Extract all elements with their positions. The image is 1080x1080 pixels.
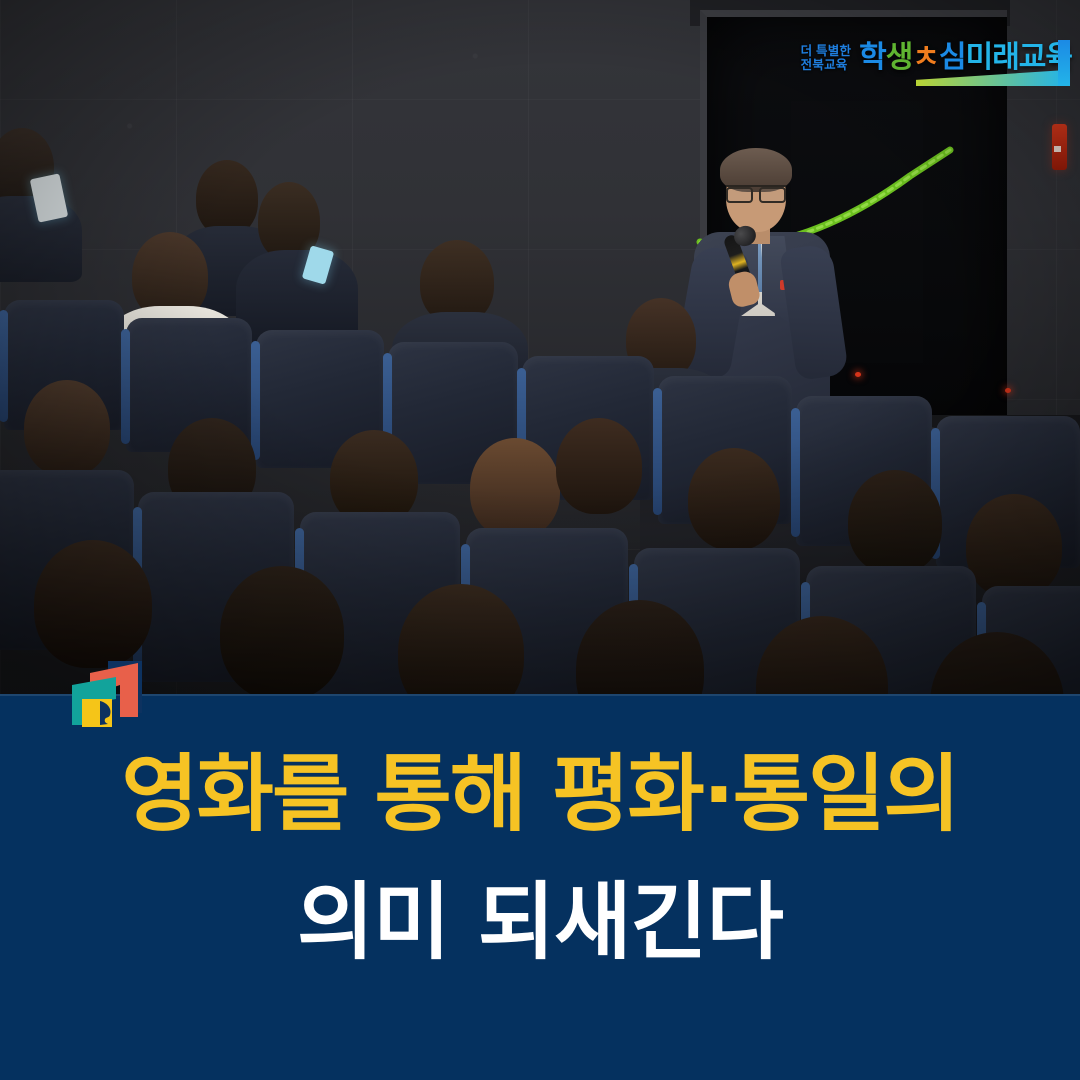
logo-small-line-2: 전북교육 <box>801 58 851 73</box>
floor-led-2 <box>1005 388 1011 393</box>
headline-banner <box>0 694 1080 1080</box>
audience-head <box>848 470 942 574</box>
audience-head <box>556 418 642 514</box>
banner-top-hairline <box>0 694 1080 696</box>
emergency-marker-icon <box>1052 124 1067 170</box>
audience-head <box>196 160 258 236</box>
logo-big-text: 학생ㅊ심미래교육 <box>859 32 1072 76</box>
audience-head <box>34 540 152 668</box>
logo-word-mirae: 미래교육 <box>966 41 1072 74</box>
logo-char-hak: 학 <box>859 41 886 74</box>
audience-head <box>470 438 560 538</box>
logo-char-saeng: 생 <box>886 41 913 74</box>
audience-head <box>24 380 110 476</box>
logo-small-line-1: 더 특별한 <box>801 44 851 59</box>
jeonbuk-education-logo: 더 특별한 전북교육 학생ㅊ심미래교육 <box>801 32 1072 76</box>
news-card: 더 특별한 전북교육 학생ㅊ심미래교육 영화를 통해 평화·통일의 의미 되새긴… <box>0 0 1080 1080</box>
logo-char-jung: ㅊ <box>912 41 939 74</box>
audience-head <box>688 448 780 550</box>
open-book-face-emblem <box>68 655 150 733</box>
audience-head <box>966 494 1062 598</box>
logo-small-text: 더 특별한 전북교육 <box>801 44 851 77</box>
glasses-icon <box>726 185 786 200</box>
event-photo: 더 특별한 전북교육 학생ㅊ심미래교육 <box>0 0 1080 700</box>
audience-head <box>220 566 344 700</box>
logo-char-sim: 심 <box>939 41 966 74</box>
logo-bar <box>1058 40 1070 86</box>
